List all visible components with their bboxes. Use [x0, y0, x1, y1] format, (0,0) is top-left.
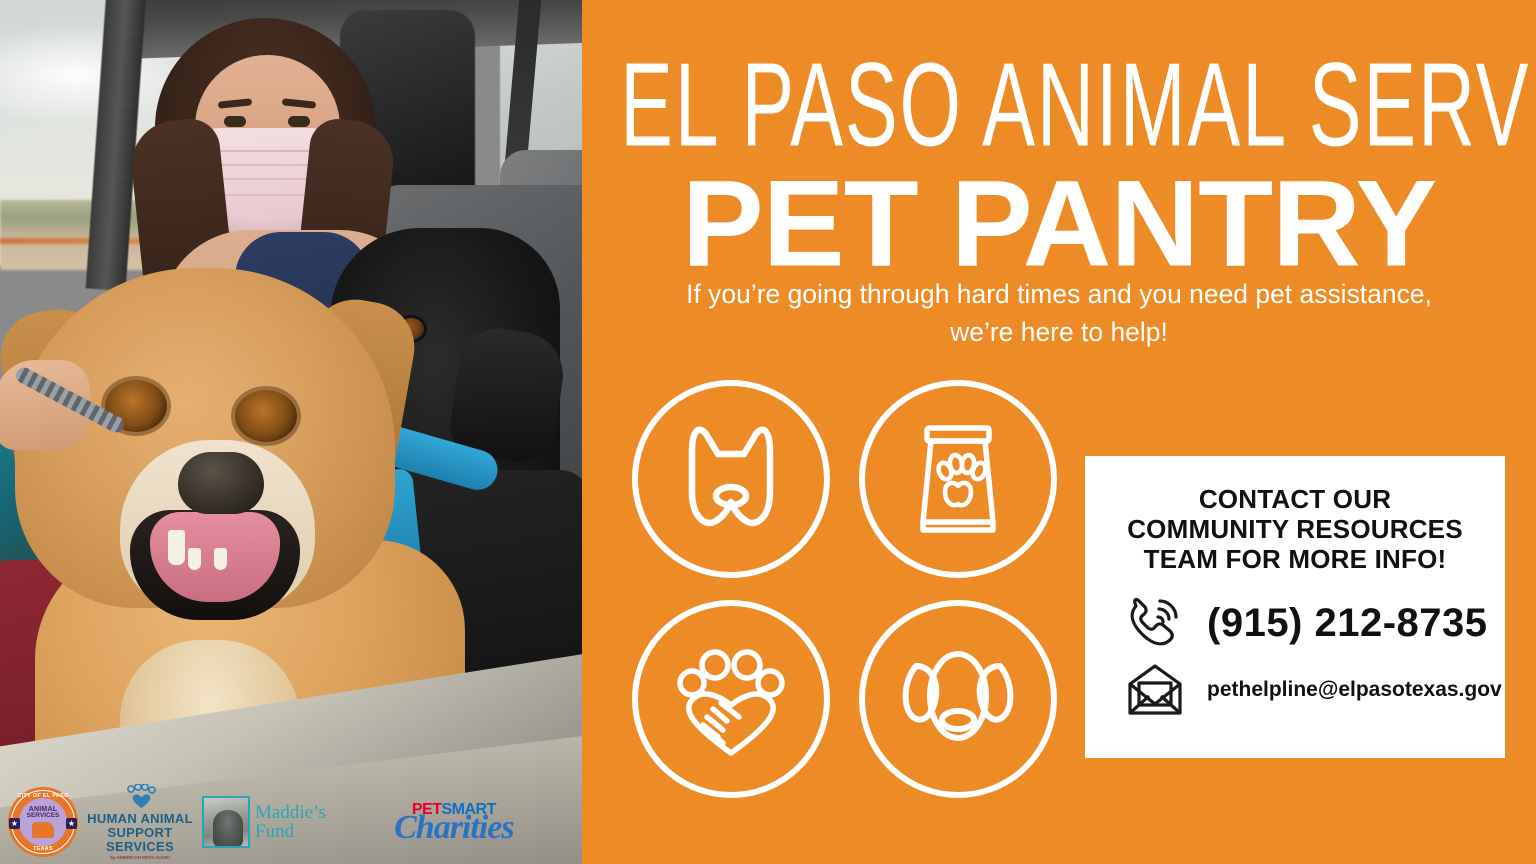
service-icon-grid	[624, 378, 1054, 802]
hass-tagline: by AMERICAN PETS ALIVE!	[86, 855, 194, 860]
content-panel: EL PASO ANIMAL SERVICES PET PANTRY If yo…	[582, 0, 1536, 864]
star-icon: ★	[66, 818, 77, 829]
cat-face-glyph	[666, 414, 796, 544]
contact-card-heading: CONTACT OUR COMMUNITY RESOURCES TEAM FOR…	[1085, 456, 1505, 574]
maddies-line1: Maddie’s	[255, 803, 326, 822]
phone-ringing-glyph	[1126, 596, 1184, 650]
seal-top-text: CITY OF EL PASO	[8, 793, 78, 799]
petsmart-charities-logo: PETSMART Charities	[334, 802, 574, 843]
seal-bottom-text: TEXAS	[8, 846, 78, 852]
dog-face-glyph	[890, 634, 1026, 764]
charities-wordmark: Charities	[334, 814, 574, 843]
contact-phone-number[interactable]: (915) 212-8735	[1207, 601, 1488, 646]
open-envelope-icon	[1119, 664, 1191, 716]
photo-woman-eye-right	[288, 116, 310, 127]
contact-email-address[interactable]: pethelpline@elpasotexas.gov	[1207, 678, 1502, 702]
photo-tan-dog-tooth	[188, 548, 201, 570]
contact-heading-line-2: COMMUNITY RESOURCES	[1099, 514, 1491, 544]
photo-woman-eye-left	[224, 116, 246, 127]
photo-tan-dog-tooth	[168, 530, 185, 565]
schnauzer-photo	[202, 796, 250, 848]
hass-line2: SUPPORT SERVICES	[86, 826, 194, 854]
maddies-fund-logo: Maddie’s Fund	[202, 796, 326, 848]
pet-food-bag-icon	[859, 380, 1057, 578]
pet-pantry-poster: CITY OF EL PASO ★ ★ ANIMAL SERVICES TEXA…	[0, 0, 1536, 864]
contact-phone-row[interactable]: (915) 212-8735	[1085, 596, 1505, 650]
page-title: PET PANTRY	[553, 152, 1536, 294]
star-icon: ★	[9, 818, 20, 829]
partner-logo-strip: CITY OF EL PASO ★ ★ ANIMAL SERVICES TEXA…	[0, 780, 582, 864]
photo-tan-dog-tooth	[214, 548, 227, 570]
phone-ringing-icon	[1119, 596, 1191, 650]
dog-face-icon	[859, 600, 1057, 798]
maddies-fund-wordmark: Maddie’s Fund	[255, 803, 326, 842]
contact-heading-line-3: TEAM FOR MORE INFO!	[1099, 544, 1491, 574]
open-envelope-glyph	[1126, 664, 1184, 716]
paw-heart-icon	[123, 784, 157, 810]
paw-handshake-glyph	[663, 631, 799, 767]
photo-tan-dog-eye-right	[235, 390, 297, 442]
contact-email-row[interactable]: pethelpline@elpasotexas.gov	[1085, 664, 1505, 716]
paw-handshake-heart-icon	[632, 600, 830, 798]
maddies-line2: Fund	[255, 822, 326, 841]
page-subtitle: If you’re going through hard times and y…	[670, 275, 1448, 352]
city-of-el-paso-animal-services-logo: CITY OF EL PASO ★ ★ ANIMAL SERVICES TEXA…	[8, 787, 78, 857]
photo-tan-dog-nose	[178, 452, 264, 514]
contact-card: CONTACT OUR COMMUNITY RESOURCES TEAM FOR…	[1085, 456, 1505, 758]
contact-heading-line-1: CONTACT OUR	[1099, 484, 1491, 514]
human-animal-support-services-logo: HUMAN ANIMAL SUPPORT SERVICES by AMERICA…	[86, 784, 194, 860]
food-bag-glyph	[893, 414, 1023, 544]
hero-photo: CITY OF EL PASO ★ ★ ANIMAL SERVICES TEXA…	[0, 0, 582, 864]
hass-line1: HUMAN ANIMAL	[86, 812, 194, 826]
cat-face-icon	[632, 380, 830, 578]
